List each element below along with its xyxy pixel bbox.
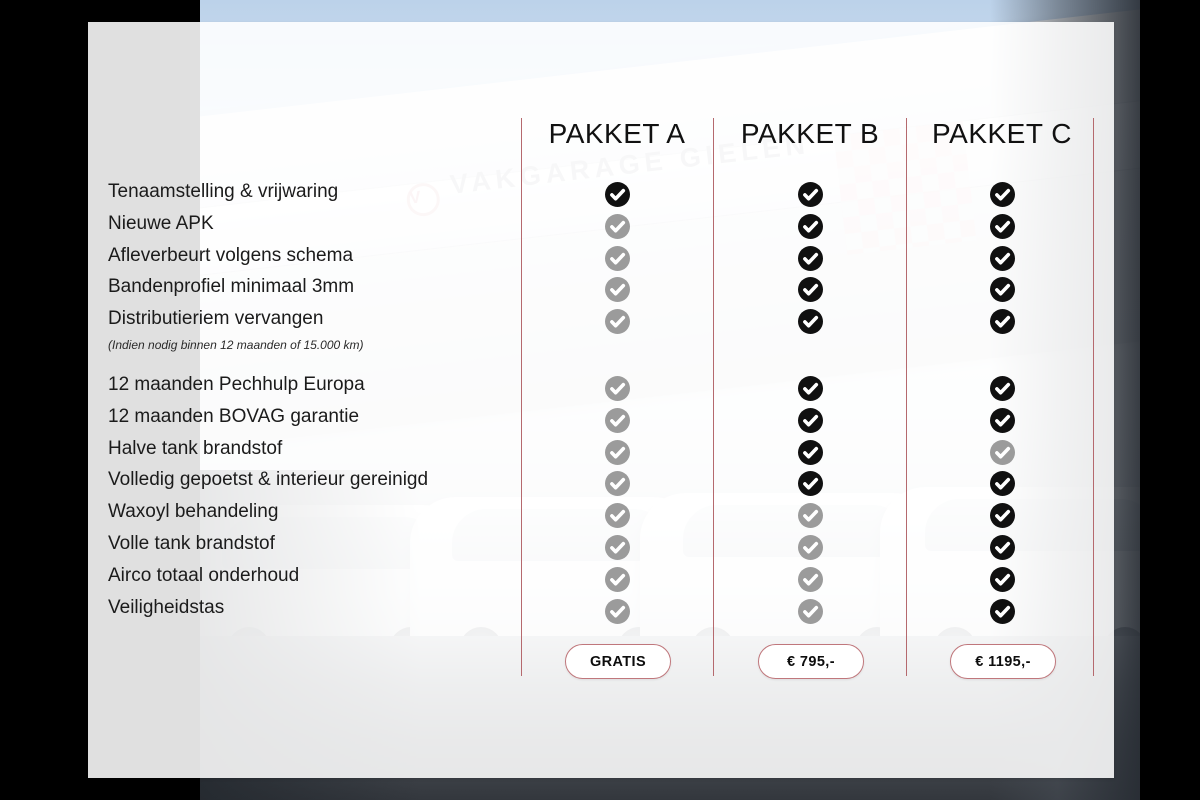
check-circle-filled-icon [990,309,1015,334]
feature-label: Airco totaal onderhoud [108,565,299,587]
column-divider-3 [906,118,907,676]
check-circle-muted-icon [798,503,823,528]
check-circle-filled-icon [798,376,823,401]
check-circle-muted-icon [605,471,630,496]
feature-label: Distributieriem vervangen [108,308,323,330]
price-button-a[interactable]: GRATIS [565,644,671,679]
check-circle-muted-icon [605,535,630,560]
feature-label: Halve tank brandstof [108,438,282,460]
feature-label: Volle tank brandstof [108,533,275,555]
column-header-c: PAKKET C [882,118,1122,158]
feature-label: 12 maanden Pechhulp Europa [108,374,365,396]
check-circle-muted-icon [798,567,823,592]
check-circle-muted-icon [798,599,823,624]
check-circle-muted-icon [605,246,630,271]
check-circle-filled-icon [798,408,823,433]
check-circle-filled-icon [798,246,823,271]
feature-label: 12 maanden BOVAG garantie [108,406,359,428]
check-circle-muted-icon [605,503,630,528]
feature-label: Nieuwe APK [108,213,214,235]
check-circle-filled-icon [990,182,1015,207]
feature-label: Bandenprofiel minimaal 3mm [108,276,354,298]
check-circle-filled-icon [798,309,823,334]
price-button-b[interactable]: € 795,- [758,644,864,679]
check-circle-muted-icon [605,376,630,401]
check-circle-filled-icon [990,599,1015,624]
feature-note: (Indien nodig binnen 12 maanden of 15.00… [108,338,364,352]
price-button-c[interactable]: € 1195,- [950,644,1056,679]
feature-label: Volledig gepoetst & interieur gereinigd [108,469,428,491]
check-circle-filled-icon [798,182,823,207]
check-circle-muted-icon [605,440,630,465]
check-circle-filled-icon [990,567,1015,592]
check-circle-muted-icon [990,440,1015,465]
feature-label: Waxoyl behandeling [108,501,278,523]
check-circle-muted-icon [605,567,630,592]
check-circle-filled-icon [990,535,1015,560]
check-circle-muted-icon [605,599,630,624]
check-circle-filled-icon [990,503,1015,528]
check-circle-filled-icon [990,408,1015,433]
check-circle-muted-icon [605,408,630,433]
check-circle-muted-icon [605,214,630,239]
check-circle-filled-icon [798,471,823,496]
check-circle-filled-icon [990,214,1015,239]
column-divider-2 [713,118,714,676]
feature-label: Veiligheidstas [108,597,224,619]
check-circle-filled-icon [990,246,1015,271]
check-circle-filled-icon [990,277,1015,302]
check-circle-filled-icon [798,214,823,239]
feature-label: Tenaamstelling & vrijwaring [108,181,338,203]
column-divider-4 [1093,118,1094,676]
feature-label: Afleverbeurt volgens schema [108,245,353,267]
check-circle-filled-icon [798,277,823,302]
screenshot-stage: VVAKGARAGE GIELEN PAKKET APAKKET BPAKKET… [0,0,1200,800]
check-circle-muted-icon [605,277,630,302]
check-circle-muted-icon [605,309,630,334]
check-circle-filled-icon [990,471,1015,496]
check-circle-filled-icon [990,376,1015,401]
check-circle-muted-icon [798,535,823,560]
column-divider-1 [521,118,522,676]
check-circle-filled-icon [605,182,630,207]
check-circle-filled-icon [798,440,823,465]
